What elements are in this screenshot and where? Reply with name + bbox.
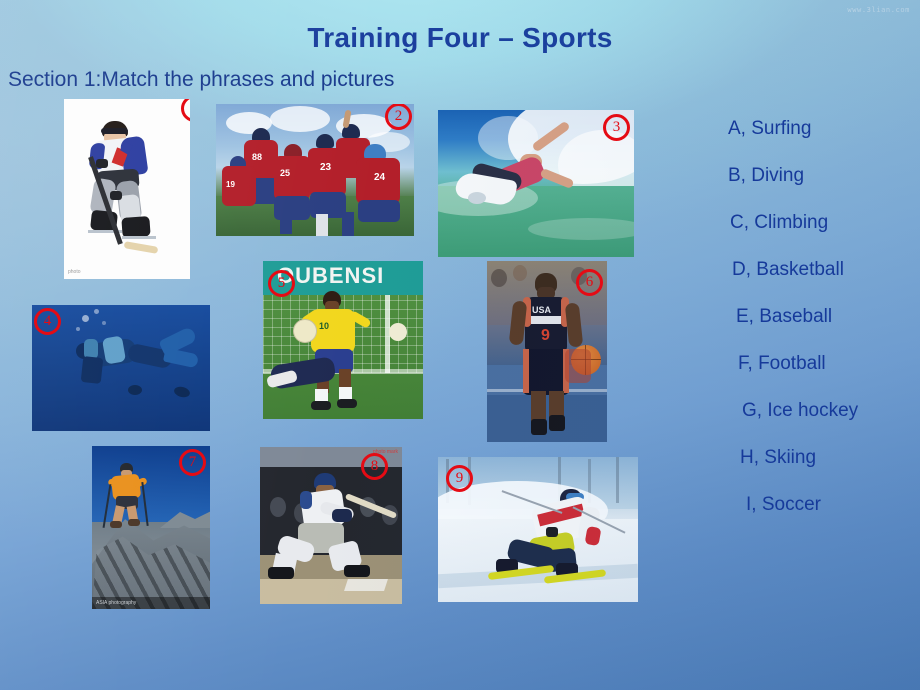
picture-number-badge-9: 9 (446, 465, 473, 492)
answer-item-i[interactable]: I, Soccer (746, 494, 916, 516)
answer-letter-b: B, (728, 165, 746, 186)
answer-item-a[interactable]: A, Surfing (728, 118, 916, 140)
picture-card-8[interactable]: photo mark 8 (260, 447, 402, 604)
answer-letter-i: I, (746, 494, 757, 515)
photo-football: 88 19 25 23 24 (216, 104, 414, 236)
answer-word-g: Ice hockey (767, 400, 858, 421)
slide-canvas: www.3lian.com Training Four – Sports Sec… (0, 0, 920, 690)
answer-letter-c: C, (730, 212, 749, 233)
answer-item-f[interactable]: F, Football (738, 353, 916, 375)
answer-item-d[interactable]: D, Basketball (732, 259, 916, 281)
answer-letter-f: F, (738, 353, 753, 374)
answer-letter-d: D, (732, 259, 751, 280)
picture-number-badge-6: 6 (576, 269, 603, 296)
answer-letter-g: G, (742, 400, 762, 421)
section-label: Section 1: (8, 68, 101, 91)
answer-word-c: Climbing (754, 212, 828, 233)
answer-word-b: Diving (751, 165, 804, 186)
watermark-text: www.3lian.com (847, 6, 910, 14)
answer-letter-e: E, (736, 306, 754, 327)
section-instruction: Section 1:Match the phrases and pictures (8, 68, 394, 92)
picture-card-9[interactable]: 9 (438, 457, 638, 602)
answer-word-e: Baseball (759, 306, 832, 327)
answer-word-f: Football (758, 353, 826, 374)
picture-card-2[interactable]: 88 19 25 23 24 2 (216, 104, 414, 236)
answer-letter-a: A, (728, 118, 746, 139)
section-instruction-text: Match the phrases and pictures (101, 68, 394, 91)
picture-number-badge-5: 5 (268, 270, 295, 297)
picture-number-badge-8: 8 (361, 453, 388, 480)
picture-card-5[interactable]: OUBENSI 10 5 (263, 261, 423, 419)
picture-card-6[interactable]: USA 9 6 (487, 261, 607, 442)
answer-item-b[interactable]: B, Diving (728, 165, 916, 187)
answer-list: A, Surfing B, Diving C, Climbing D, Bask… (726, 118, 916, 541)
answer-word-i: Soccer (762, 494, 821, 515)
picture-number-badge-2: 2 (385, 104, 412, 130)
answer-word-h: Skiing (764, 447, 816, 468)
answer-item-h[interactable]: H, Skiing (740, 447, 916, 469)
picture-card-7[interactable]: ASIA photography 7 (92, 446, 210, 609)
picture-card-3[interactable]: 3 (438, 110, 634, 257)
photo-ice-hockey: photo (64, 99, 190, 279)
answer-letter-h: H, (740, 447, 759, 468)
picture-card-1[interactable]: photo 1 (64, 99, 190, 279)
picture-card-4[interactable]: 4 (32, 305, 210, 431)
picture-number-badge-3: 3 (603, 114, 630, 141)
picture-number-badge-7: 7 (179, 449, 206, 476)
picture-number-badge-4: 4 (34, 308, 61, 335)
page-title: Training Four – Sports (0, 22, 920, 54)
answer-word-d: Basketball (756, 259, 844, 280)
answer-word-a: Surfing (751, 118, 811, 139)
answer-item-e[interactable]: E, Baseball (736, 306, 916, 328)
answer-item-g[interactable]: G, Ice hockey (742, 400, 916, 422)
answer-item-c[interactable]: C, Climbing (730, 212, 916, 234)
